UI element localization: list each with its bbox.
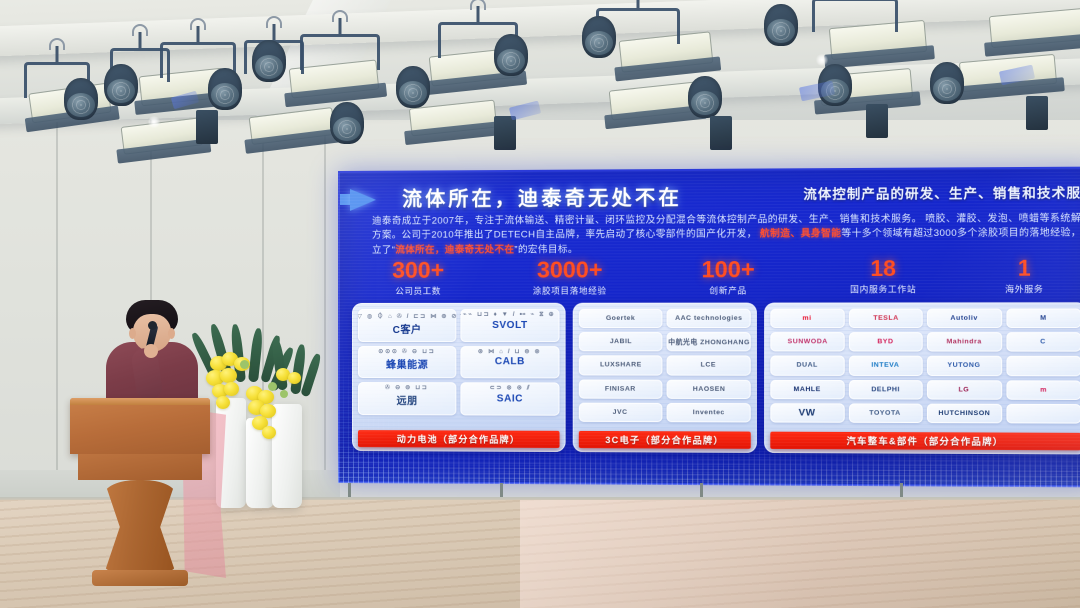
logo-text: DELPHI xyxy=(871,386,900,393)
logo-cell[interactable]: m xyxy=(1006,380,1080,400)
logo-cell[interactable]: Goertek xyxy=(579,309,663,328)
presenter-ear xyxy=(168,328,175,339)
stat-number: 300+ xyxy=(348,259,489,282)
par-can-light xyxy=(930,62,964,104)
logo-cell[interactable] xyxy=(1006,356,1080,376)
logo-brand: 远朋 xyxy=(397,392,418,407)
logo-text: JVC xyxy=(613,409,628,416)
logo-text: Goertek xyxy=(606,315,635,322)
logo-cell[interactable]: DELPHI xyxy=(848,380,922,400)
logo-cell[interactable]: SUNWODA xyxy=(770,332,844,352)
logo-text: MAHLE xyxy=(794,386,821,393)
logo-cell[interactable]: TOYOTA xyxy=(848,403,922,423)
stage-light-rig xyxy=(0,0,1080,175)
logo-icons: ⌁⌁⌁ ⊔⊐ ♦ ▼ / ⊷ ⌁ ⧖ ⊕ ⌇ xyxy=(460,310,559,319)
logo-text: HAOSEN xyxy=(692,386,724,393)
logo-cell[interactable]: DUAL xyxy=(770,356,844,376)
logo-cell[interactable]: LG xyxy=(927,380,1002,400)
box-light xyxy=(710,116,732,150)
logo-text: C xyxy=(1041,339,1047,346)
logo-cell[interactable]: JABIL xyxy=(579,332,663,351)
logo-text: m xyxy=(1040,386,1047,393)
wall-seam xyxy=(56,120,58,508)
light-yoke xyxy=(300,34,380,70)
logo-icons: ✇ ⊖ ⊚ ⊔⊐ xyxy=(385,384,429,392)
logo-cell[interactable]: Inventec xyxy=(667,403,751,423)
box-light xyxy=(196,110,218,144)
logo-cell[interactable]: YUTONG xyxy=(927,356,1002,376)
logo-grid: Goertek AAC technologies JABIL 中航光电 ZHON… xyxy=(579,309,751,423)
microphone-head xyxy=(148,321,157,330)
logo-brand: SAIC xyxy=(497,394,523,405)
podium-base xyxy=(92,570,188,586)
lens-flare xyxy=(816,54,828,66)
par-can-light xyxy=(64,78,98,120)
logo-text: Autoliv xyxy=(951,315,978,322)
logo-grid: mi TESLA Autoliv M SUNWODA BYD Mahindra … xyxy=(770,308,1080,423)
logo-cell[interactable]: LUXSHARE xyxy=(579,356,663,376)
logo-cell[interactable]: HAOSEN xyxy=(667,379,751,399)
logo-text: HUTCHINSON xyxy=(938,410,990,417)
stat-item: 300+ 公司员工数 xyxy=(348,259,489,297)
stat-label: 公司员工数 xyxy=(348,285,489,297)
logo-text: 中航光电 ZHONGHANG xyxy=(668,337,750,347)
logo-cell[interactable]: Mahindra xyxy=(927,332,1002,352)
podium-midsection xyxy=(78,454,202,480)
banner-label: 汽车整车&部件（部分合作品牌） xyxy=(847,434,1004,448)
stat-number: 100+ xyxy=(651,258,805,282)
logo-brand: SVOLT xyxy=(492,320,527,331)
stat-item: 18 国内服务工作站 xyxy=(805,257,961,295)
logo-icons: ⊛ ⋈ ⌂ / ⊔ ⊜ ⊗ xyxy=(478,347,541,355)
stat-item: 100+ 创新产品 xyxy=(651,258,805,297)
logo-text: LCE xyxy=(701,362,716,369)
logo-cell[interactable] xyxy=(1006,404,1080,424)
group-banner-power-battery: 动力电池（部分合作品牌） xyxy=(358,430,560,448)
box-light xyxy=(1026,96,1048,130)
flower-vase xyxy=(272,404,302,508)
logo-group-automotive: mi TESLA Autoliv M SUNWODA BYD Mahindra … xyxy=(764,302,1080,454)
box-light xyxy=(494,116,516,150)
logo-cell[interactable]: VW xyxy=(770,403,844,423)
logo-cell[interactable]: 中航光电 ZHONGHANG xyxy=(667,332,751,352)
stat-label: 国内服务工作站 xyxy=(805,283,961,295)
logo-cell[interactable]: LCE xyxy=(667,356,751,376)
logo-cell[interactable]: mi xyxy=(770,309,844,329)
logo-cell[interactable]: ⊛ ⋈ ⌂ / ⊔ ⊜ ⊗ CALB xyxy=(460,346,559,379)
slide-headline-row: 流体所在，迪泰奇无处不在 流体控制产品的研发、生产、销售和技术服务 xyxy=(348,179,1080,215)
logo-text: SUNWODA xyxy=(787,339,827,346)
presenter-hand xyxy=(144,344,158,358)
stat-number: 1 xyxy=(961,257,1080,280)
logo-cell[interactable]: ✇ ⊖ ⊚ ⊔⊐ 远朋 xyxy=(358,382,456,415)
logo-cell[interactable]: ⌁⌁⌁ ⊔⊐ ♦ ▼ / ⊷ ⌁ ⧖ ⊕ ⌇ SVOLT xyxy=(460,309,559,342)
slide-stats-row: 300+ 公司员工数 3000+ 涂胶项目落地经验 100+ 创新产品 18 国… xyxy=(348,257,1080,297)
stage-panel-light xyxy=(609,81,700,120)
logo-cell[interactable]: ⊙⊙⊙ ✇ ⊖ ⊔⊐ 蜂巢能源 xyxy=(358,346,456,379)
paragraph-line-3-end: 的宏伟目标。 xyxy=(518,244,578,255)
logo-icons: ▽ ◍ ⏀ ⌂ ✇ / ⊏⊐ ⋈ ⊛ ⊘ xyxy=(358,310,456,320)
slide-headline-tail: 流体控制产品的研发、生产、销售和技术服务 xyxy=(803,182,1080,203)
par-can-light xyxy=(208,68,242,110)
stat-label: 涂胶项目落地经验 xyxy=(489,285,652,297)
logo-cell[interactable]: TESLA xyxy=(848,309,922,329)
logo-cell[interactable]: INTEVA xyxy=(848,356,922,376)
logo-text: M xyxy=(1040,315,1046,322)
slide-headline: 流体所在，迪泰奇无处不在 xyxy=(402,181,682,212)
logo-cell[interactable]: AAC technologies xyxy=(667,309,751,328)
logo-text: LG xyxy=(959,386,970,393)
stat-item: 3000+ 涂胶项目落地经验 xyxy=(489,258,652,297)
logo-text: YUTONG xyxy=(948,362,981,369)
logo-cell[interactable]: BYD xyxy=(848,332,922,352)
logo-cell[interactable]: JVC xyxy=(579,402,663,422)
box-light xyxy=(866,104,888,138)
logo-icons: ⊙⊙⊙ ✇ ⊖ ⊔⊐ xyxy=(379,347,436,355)
stage-panel-light xyxy=(121,117,204,155)
logo-cell[interactable]: Autoliv xyxy=(927,309,1002,329)
par-can-light xyxy=(104,64,138,106)
logo-brand: CALB xyxy=(495,356,525,367)
stat-number: 3000+ xyxy=(489,258,652,282)
logo-text: JABIL xyxy=(609,339,631,346)
par-can-light xyxy=(764,4,798,46)
logo-cell[interactable]: M xyxy=(1006,308,1080,328)
logo-brand: 蜂巢能源 xyxy=(386,356,428,371)
logo-cell[interactable]: MAHLE xyxy=(770,379,844,399)
logo-brand: C客户 xyxy=(393,321,422,336)
stat-label: 创新产品 xyxy=(651,284,805,296)
podium-column xyxy=(104,480,176,574)
stat-label: 海外服务 xyxy=(961,283,1080,295)
logo-text: BYD xyxy=(877,339,893,346)
led-presentation-screen[interactable]: 流体所在，迪泰奇无处不在 流体控制产品的研发、生产、销售和技术服务 迪泰奇成立于… xyxy=(338,167,1080,488)
conference-stage-photo: 流体所在，迪泰奇无处不在 流体控制产品的研发、生产、销售和技术服务 迪泰奇成立于… xyxy=(0,0,1080,608)
paragraph-highlight-1: 航制造、具身智能 xyxy=(760,229,841,240)
presenter-ear xyxy=(129,328,136,339)
logo-text: INTEVA xyxy=(871,362,899,369)
logo-grid: ▽ ◍ ⏀ ⌂ ✇ / ⊏⊐ ⋈ ⊛ ⊘ C客户 ⌁⌁⌁ ⊔⊐ ♦ ▼ / ⊷ … xyxy=(358,309,560,416)
logo-text: TOYOTA xyxy=(870,410,901,417)
logo-text: Inventec xyxy=(693,409,725,416)
logo-text: DUAL xyxy=(797,362,818,369)
floor-reflection xyxy=(520,500,1080,608)
logo-cell[interactable]: FINISAR xyxy=(579,379,663,399)
logo-text: VW xyxy=(799,407,816,418)
banner-label: 3C电子（部分合作品牌） xyxy=(605,433,724,447)
par-can-light xyxy=(688,76,722,118)
logo-text: mi xyxy=(803,315,812,322)
slide-paragraph: 迪泰奇成立于2007年，专注于流体输送、精密计量、闭环监控及分配混合等流体控制产… xyxy=(372,212,1080,258)
podium-top-edge xyxy=(70,398,210,405)
light-yoke xyxy=(812,0,898,32)
par-can-light xyxy=(330,102,364,144)
logo-icons: ⊂⊃ ⊗ ⊛ ⫽ xyxy=(489,384,531,393)
par-can-light xyxy=(494,34,528,76)
logo-cell[interactable]: C xyxy=(1006,332,1080,352)
stage-panel-light xyxy=(989,8,1080,48)
blue-light-spill xyxy=(509,101,541,121)
par-can-light xyxy=(252,40,286,82)
arrow-right-icon xyxy=(350,189,376,211)
par-can-light xyxy=(396,66,430,108)
logo-text: LUXSHARE xyxy=(600,362,642,369)
group-banner-automotive: 汽车整车&部件（部分合作品牌） xyxy=(770,432,1080,451)
logo-group-3c-electronics: Goertek AAC technologies JABIL 中航光电 ZHON… xyxy=(573,303,757,453)
par-can-light xyxy=(582,16,616,58)
logo-group-power-battery: ▽ ◍ ⏀ ⌂ ✇ / ⊏⊐ ⋈ ⊛ ⊘ C客户 ⌁⌁⌁ ⊔⊐ ♦ ▼ / ⊷ … xyxy=(352,303,566,452)
wall-seam xyxy=(324,120,326,508)
stage-panel-light xyxy=(249,107,336,145)
paragraph-highlight-2: 流体所在，迪泰奇无处不在 xyxy=(395,244,514,255)
logo-cell[interactable]: ⊂⊃ ⊗ ⊛ ⫽ SAIC xyxy=(460,383,559,416)
banner-label: 动力电池（部分合作品牌） xyxy=(397,432,520,446)
stat-item: 1 海外服务 xyxy=(961,257,1080,295)
stat-number: 18 xyxy=(805,257,961,280)
partner-logo-area: ▽ ◍ ⏀ ⌂ ✇ / ⊏⊐ ⋈ ⊛ ⊘ C客户 ⌁⌁⌁ ⊔⊐ ♦ ▼ / ⊷ … xyxy=(352,302,1080,454)
lens-flare xyxy=(148,116,160,128)
logo-text: AAC technologies xyxy=(675,315,742,322)
group-banner-3c-electronics: 3C电子（部分合作品牌） xyxy=(579,431,751,449)
podium-desktop xyxy=(70,398,210,454)
logo-cell[interactable]: HUTCHINSON xyxy=(927,403,1002,423)
logo-text: Mahindra xyxy=(947,339,982,346)
paragraph-line-1: 迪泰奇成立于2007年，专注于流体输送、精密计量、闭环监控及分配混合等流体控制产… xyxy=(372,214,922,227)
logo-cell[interactable]: ▽ ◍ ⏀ ⌂ ✇ / ⊏⊐ ⋈ ⊛ ⊘ C客户 xyxy=(358,309,456,342)
wooden-podium xyxy=(70,398,210,588)
logo-text: FINISAR xyxy=(605,385,636,392)
presenter xyxy=(104,300,200,412)
logo-text: TESLA xyxy=(873,315,898,322)
